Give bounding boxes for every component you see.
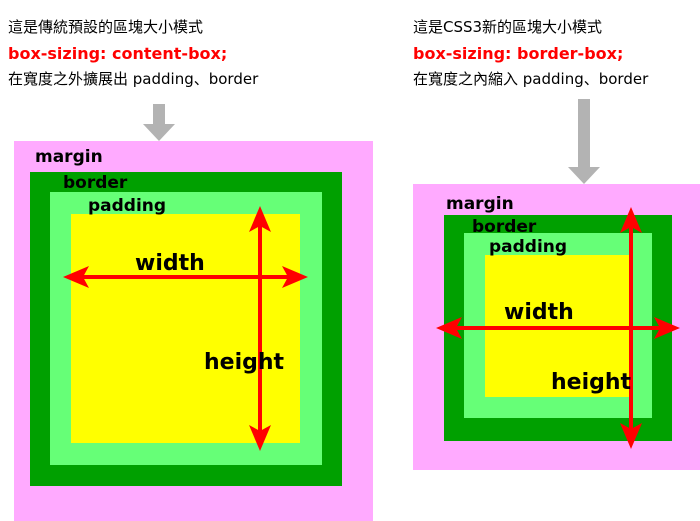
left-padding-label: padding	[88, 198, 166, 215]
caption-right-line1: 這是CSS3新的區塊大小模式	[413, 15, 648, 40]
left-height-label: height	[204, 352, 284, 374]
right-height-arrow	[616, 207, 646, 449]
diagram-canvas: 這是傳統預設的區塊大小模式 box-sizing: content-box; 在…	[0, 0, 700, 514]
left-margin-label: margin	[35, 149, 103, 166]
caption-left-code: box-sizing: content-box;	[8, 40, 258, 67]
right-padding-label: padding	[489, 239, 567, 256]
right-width-label: width	[504, 302, 574, 324]
left-border-label: border	[63, 175, 127, 192]
right-height-label: height	[551, 372, 631, 394]
caption-left-line1: 這是傳統預設的區塊大小模式	[8, 15, 258, 40]
left-height-arrow	[245, 206, 275, 451]
arrow-down-icon-right	[567, 99, 601, 185]
caption-right-code: box-sizing: border-box;	[413, 40, 648, 67]
right-margin-label: margin	[446, 196, 514, 213]
left-width-label: width	[135, 253, 205, 275]
arrow-down-icon-left	[142, 104, 176, 142]
caption-left-line3: 在寬度之外擴展出 padding、border	[8, 67, 258, 92]
right-border-label: border	[472, 219, 536, 236]
caption-border-box: 這是CSS3新的區塊大小模式 box-sizing: border-box; 在…	[413, 15, 648, 92]
caption-right-line3: 在寬度之內縮入 padding、border	[413, 67, 648, 92]
caption-content-box: 這是傳統預設的區塊大小模式 box-sizing: content-box; 在…	[8, 15, 258, 92]
